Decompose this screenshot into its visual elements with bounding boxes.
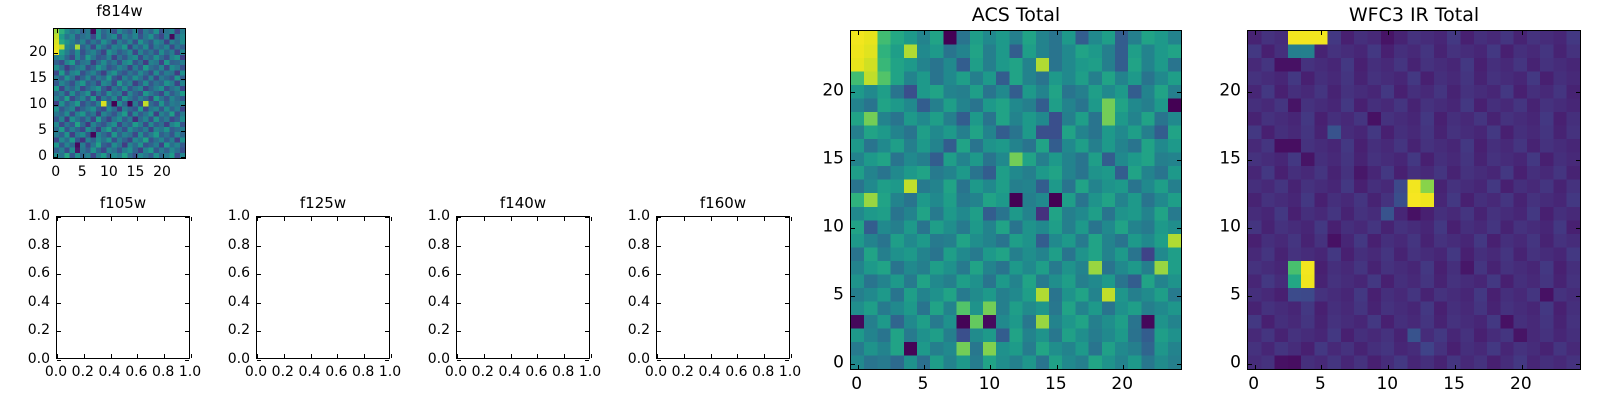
f160w-panel-ytick-right [785,217,789,218]
f814w-panel-ytick [54,105,58,106]
f105w-panel-yticklabel: 0.8 [28,238,50,252]
f105w-panel-xticklabel: 1.0 [179,365,201,379]
f125w-panel-yticklabel: 0.4 [228,295,250,309]
f105w-panel-ytick-right [185,274,189,275]
acs-total-panel-xticklabel: 10 [979,376,1001,393]
f105w-panel-ytick-right [185,246,189,247]
f814w-panel: f814w0510152005101520 [53,28,186,159]
f125w-panel-xticklabel: 0.0 [245,365,267,379]
acs-total-panel-ytick [851,228,855,229]
acs-total-panel-axes [850,30,1182,370]
wfc3-ir-total-panel-ytick [1248,160,1252,161]
f814w-panel-xticklabel: 5 [78,165,87,179]
f105w-panel-ytick-right [185,303,189,304]
acs-total-panel-ytick [851,92,855,93]
wfc3-ir-total-panel-title: WFC3 IR Total [1349,6,1479,25]
wfc3-ir-total-panel: WFC3 IR Total0510152005101520 [1247,30,1581,370]
f125w-panel-title: f125w [300,196,346,211]
f125w-panel-ytick-right [385,331,389,332]
f125w-panel-ytick [257,360,261,361]
f125w-panel-yticklabel: 0.6 [228,266,250,280]
f105w-panel-xtick-top [164,217,165,221]
wfc3-ir-total-panel-xtick [1321,365,1322,369]
f160w-panel-xticklabel: 0.8 [752,365,774,379]
f125w-panel-xtick [284,354,285,358]
f140w-panel-ytick [457,217,461,218]
f125w-panel-yticklabel: 0.8 [228,238,250,252]
f105w-panel-ytick-right [185,331,189,332]
wfc3-ir-total-panel-yticklabel: 10 [1219,219,1241,236]
wfc3-ir-total-panel-ytick [1248,92,1252,93]
f105w-panel-xtick [84,354,85,358]
f140w-panel-xticklabel: 0.0 [445,365,467,379]
f125w-panel-ytick-right [385,303,389,304]
f140w-panel: f140w0.00.20.40.60.81.00.00.20.40.60.81.… [456,216,590,359]
acs-total-panel-xticklabel: 0 [851,376,862,393]
f160w-panel-yticklabel: 0.2 [628,323,650,337]
f105w-panel-xticklabel: 0.6 [125,365,147,379]
wfc3-ir-total-panel-ytick [1248,228,1252,229]
f814w-panel-xtick-top [163,29,164,33]
f160w-panel-ytick [657,331,661,332]
f814w-panel-ytick [54,79,58,80]
wfc3-ir-total-panel-xtick [1255,365,1256,369]
wfc3-ir-total-panel-xtick-top [1321,31,1322,35]
wfc3-ir-total-panel-ytick-right [1576,296,1580,297]
f814w-panel-yticklabel: 0 [38,149,47,163]
f160w-panel-ytick-right [785,331,789,332]
f160w-panel-ytick-right [785,246,789,247]
f140w-panel-ytick-right [585,246,589,247]
f125w-panel-ytick [257,274,261,275]
matplotlib-figure: f814w0510152005101520f105w0.00.20.40.60.… [0,0,1600,400]
f105w-panel-ytick [57,360,61,361]
f105w-panel-ytick [57,274,61,275]
f125w-panel-xticklabel: 0.8 [352,365,374,379]
f105w-panel: f105w0.00.20.40.60.81.00.00.20.40.60.81.… [56,216,190,359]
f814w-panel-xtick [83,154,84,158]
wfc3-ir-total-panel-yticklabel: 0 [1230,355,1241,372]
wfc3-ir-total-panel-ytick [1248,296,1252,297]
f125w-panel-xtick-top [311,217,312,221]
f140w-panel-yticklabel: 1.0 [428,209,450,223]
f125w-panel-ytick [257,217,261,218]
f105w-panel-yticklabel: 0.6 [28,266,50,280]
f140w-panel-ytick-right [585,303,589,304]
f160w-panel-yticklabel: 1.0 [628,209,650,223]
f160w-panel-ytick-right [785,360,789,361]
f125w-panel-xticklabel: 0.6 [325,365,347,379]
f105w-panel-ytick [57,331,61,332]
f160w-panel-axes [656,216,790,359]
wfc3-ir-total-panel-xtick [1455,365,1456,369]
acs-total-panel-title: ACS Total [972,6,1060,25]
wfc3-ir-total-panel-ytick-right [1576,160,1580,161]
f160w-panel-ytick [657,360,661,361]
f140w-panel-xticklabel: 0.2 [472,365,494,379]
f125w-panel-ytick [257,246,261,247]
f814w-panel-xticklabel: 10 [100,165,118,179]
f140w-panel-ytick-right [585,360,589,361]
f814w-panel-ytick-right [181,157,185,158]
f140w-panel-yticklabel: 0.0 [428,352,450,366]
f125w-panel-xtick-top [284,217,285,221]
f140w-panel-xtick-top [537,217,538,221]
f140w-panel-title: f140w [500,196,546,211]
acs-total-panel-xtick [858,365,859,369]
f140w-panel-xtick [564,354,565,358]
f105w-panel-xtick [164,354,165,358]
wfc3-ir-total-panel-xtick [1522,365,1523,369]
f140w-panel-ytick [457,331,461,332]
f125w-panel-ytick-right [385,274,389,275]
f125w-panel-xtick [364,354,365,358]
f160w-panel-xticklabel: 1.0 [779,365,801,379]
f814w-panel-title: f814w [96,4,142,19]
f105w-panel-xtick [57,354,58,358]
wfc3-ir-total-panel-yticklabel: 5 [1230,287,1241,304]
f814w-panel-xtick-top [110,29,111,33]
f105w-panel-yticklabel: 0.0 [28,352,50,366]
wfc3-ir-total-panel-xticklabel: 20 [1510,376,1532,393]
f160w-panel-xtick-top [684,217,685,221]
wfc3-ir-total-panel-ytick-right [1576,92,1580,93]
f160w-panel-xticklabel: 0.6 [725,365,747,379]
acs-total-panel-ytick-right [1177,364,1181,365]
f105w-panel-axes [56,216,190,359]
acs-total-panel-xtick-top [924,31,925,35]
f160w-panel-ytick [657,217,661,218]
f160w-panel-yticklabel: 0.4 [628,295,650,309]
f140w-panel-ytick [457,246,461,247]
f814w-panel-xtick-top [136,29,137,33]
f140w-panel-ytick [457,360,461,361]
f105w-panel-xticklabel: 0.8 [152,365,174,379]
wfc3-ir-total-panel-xtick [1388,365,1389,369]
acs-total-panel-yticklabel: 20 [822,83,844,100]
f105w-panel-yticklabel: 0.4 [28,295,50,309]
f140w-panel-xticklabel: 0.4 [498,365,520,379]
acs-total-panel-yticklabel: 0 [833,355,844,372]
f105w-panel-xticklabel: 0.0 [45,365,67,379]
f125w-panel-xtick [311,354,312,358]
acs-total-panel-xtick-top [990,31,991,35]
f105w-panel-ytick-right [185,360,189,361]
f814w-panel-xtick-top [83,29,84,33]
f105w-panel-yticklabel: 0.2 [28,323,50,337]
f160w-panel-yticklabel: 0.8 [628,238,650,252]
acs-total-panel-yticklabel: 10 [822,219,844,236]
acs-total-panel-ytick-right [1177,92,1181,93]
f125w-panel-ytick-right [385,246,389,247]
acs-total-panel-xtick-top [858,31,859,35]
f160w-panel-xtick [657,354,658,358]
wfc3-ir-total-panel-xticklabel: 10 [1376,376,1398,393]
f140w-panel-xticklabel: 0.6 [525,365,547,379]
f160w-panel-xtick-top [737,217,738,221]
f140w-panel-xtick-top [591,217,592,221]
wfc3-ir-total-panel-axes [1247,30,1581,370]
f125w-panel-xtick-top [391,217,392,221]
acs-total-panel-xtick-top [1123,31,1124,35]
f140w-panel-axes [456,216,590,359]
f814w-panel-axes [53,28,186,159]
f160w-panel-xtick-top [711,217,712,221]
acs-total-panel-ytick [851,364,855,365]
wfc3-ir-total-panel-xtick-top [1522,31,1523,35]
f160w-panel-xtick [684,354,685,358]
f105w-panel-xtick-top [137,217,138,221]
f105w-panel-ytick [57,217,61,218]
f160w-panel-ytick-right [785,303,789,304]
f814w-panel-image [54,29,185,158]
f814w-panel-xtick [136,154,137,158]
f160w-panel-yticklabel: 0.0 [628,352,650,366]
f125w-panel-xticklabel: 0.2 [272,365,294,379]
f160w-panel-xtick [764,354,765,358]
f125w-panel-yticklabel: 0.2 [228,323,250,337]
f105w-panel-xtick-top [111,217,112,221]
f160w-panel-xtick [737,354,738,358]
f125w-panel-xtick [257,354,258,358]
f814w-panel-ytick-right [181,53,185,54]
acs-total-panel-xtick [1057,365,1058,369]
wfc3-ir-total-panel-image [1248,31,1580,369]
f160w-panel-xticklabel: 0.4 [698,365,720,379]
f814w-panel-yticklabel: 10 [29,97,47,111]
f105w-panel-xtick-top [191,217,192,221]
f105w-panel-ytick-right [185,217,189,218]
f125w-panel-ytick [257,331,261,332]
f814w-panel-ytick-right [181,79,185,80]
f125w-panel-axes [256,216,390,359]
f140w-panel-yticklabel: 0.6 [428,266,450,280]
f814w-panel-xtick-top [57,29,58,33]
f125w-panel-yticklabel: 0.0 [228,352,250,366]
f140w-panel-xticklabel: 0.8 [552,365,574,379]
f105w-panel-xtick [111,354,112,358]
f814w-panel-yticklabel: 20 [29,45,47,59]
f160w-panel-ytick [657,303,661,304]
f140w-panel-ytick-right [585,217,589,218]
f160w-panel-xtick-top [791,217,792,221]
f814w-panel-ytick-right [181,105,185,106]
f140w-panel-xtick [511,354,512,358]
f125w-panel-xticklabel: 0.4 [298,365,320,379]
f814w-panel-xtick [110,154,111,158]
f140w-panel-ytick-right [585,274,589,275]
wfc3-ir-total-panel-yticklabel: 15 [1219,151,1241,168]
f140w-panel-ytick [457,274,461,275]
f160w-panel-xtick [791,354,792,358]
f160w-panel-xticklabel: 0.2 [672,365,694,379]
f814w-panel-xticklabel: 0 [51,165,60,179]
f814w-panel-yticklabel: 5 [38,123,47,137]
f105w-panel-ytick [57,246,61,247]
wfc3-ir-total-panel-ytick [1248,364,1252,365]
f140w-panel-yticklabel: 0.2 [428,323,450,337]
wfc3-ir-total-panel-ytick-right [1576,364,1580,365]
f160w-panel-xticklabel: 0.0 [645,365,667,379]
f105w-panel-title: f105w [100,196,146,211]
f140w-panel-ytick-right [585,331,589,332]
f140w-panel-xtick-top [511,217,512,221]
acs-total-panel: ACS Total0510152005101520 [850,30,1182,370]
f140w-panel-ytick [457,303,461,304]
f105w-panel-xtick [191,354,192,358]
f105w-panel-yticklabel: 1.0 [28,209,50,223]
f105w-panel-xtick [137,354,138,358]
f125w-panel-ytick-right [385,360,389,361]
f140w-panel-yticklabel: 0.4 [428,295,450,309]
acs-total-panel-xticklabel: 20 [1111,376,1133,393]
f125w-panel-xtick [337,354,338,358]
f814w-panel-yticklabel: 15 [29,71,47,85]
f140w-panel-xtick [591,354,592,358]
f105w-panel-xtick-top [84,217,85,221]
wfc3-ir-total-panel-xtick-top [1455,31,1456,35]
wfc3-ir-total-panel-xticklabel: 5 [1315,376,1326,393]
f140w-panel-xticklabel: 1.0 [579,365,601,379]
f814w-panel-xticklabel: 15 [127,165,145,179]
f125w-panel-ytick [257,303,261,304]
acs-total-panel-ytick [851,296,855,297]
acs-total-panel-image [851,31,1181,369]
f814w-panel-ytick [54,53,58,54]
f160w-panel-xtick [711,354,712,358]
f140w-panel-xtick [484,354,485,358]
f125w-panel-xtick-top [364,217,365,221]
acs-total-panel-ytick-right [1177,160,1181,161]
acs-total-panel-yticklabel: 15 [822,151,844,168]
f140w-panel-xtick [537,354,538,358]
acs-total-panel-ytick-right [1177,228,1181,229]
f814w-panel-xtick [163,154,164,158]
f160w-panel-ytick [657,246,661,247]
f105w-panel-xticklabel: 0.4 [98,365,120,379]
acs-total-panel-yticklabel: 5 [833,287,844,304]
f105w-panel-ytick [57,303,61,304]
acs-total-panel-xtick [990,365,991,369]
f140w-panel-xtick-top [484,217,485,221]
f160w-panel-ytick [657,274,661,275]
f160w-panel-xtick-top [764,217,765,221]
f814w-panel-ytick [54,157,58,158]
f160w-panel-ytick-right [785,274,789,275]
wfc3-ir-total-panel-xticklabel: 0 [1248,376,1259,393]
f125w-panel-ytick-right [385,217,389,218]
f140w-panel-xtick [457,354,458,358]
f140w-panel-xtick-top [564,217,565,221]
f125w-panel-xtick-top [337,217,338,221]
wfc3-ir-total-panel-xtick-top [1388,31,1389,35]
f160w-panel-title: f160w [700,196,746,211]
f125w-panel-yticklabel: 1.0 [228,209,250,223]
wfc3-ir-total-panel-yticklabel: 20 [1219,83,1241,100]
acs-total-panel-xticklabel: 5 [918,376,929,393]
acs-total-panel-ytick-right [1177,296,1181,297]
f125w-panel-xtick [391,354,392,358]
acs-total-panel-xtick [924,365,925,369]
f140w-panel-yticklabel: 0.8 [428,238,450,252]
f814w-panel-ytick-right [181,131,185,132]
f814w-panel-xticklabel: 20 [153,165,171,179]
f814w-panel-ytick [54,131,58,132]
acs-total-panel-ytick [851,160,855,161]
wfc3-ir-total-panel-ytick-right [1576,228,1580,229]
wfc3-ir-total-panel-xtick-top [1255,31,1256,35]
f105w-panel-xticklabel: 0.2 [72,365,94,379]
acs-total-panel-xticklabel: 15 [1045,376,1067,393]
f160w-panel-yticklabel: 0.6 [628,266,650,280]
f125w-panel: f125w0.00.20.40.60.81.00.00.20.40.60.81.… [256,216,390,359]
wfc3-ir-total-panel-xticklabel: 15 [1443,376,1465,393]
f160w-panel: f160w0.00.20.40.60.81.00.00.20.40.60.81.… [656,216,790,359]
acs-total-panel-xtick-top [1057,31,1058,35]
f125w-panel-xticklabel: 1.0 [379,365,401,379]
acs-total-panel-xtick [1123,365,1124,369]
